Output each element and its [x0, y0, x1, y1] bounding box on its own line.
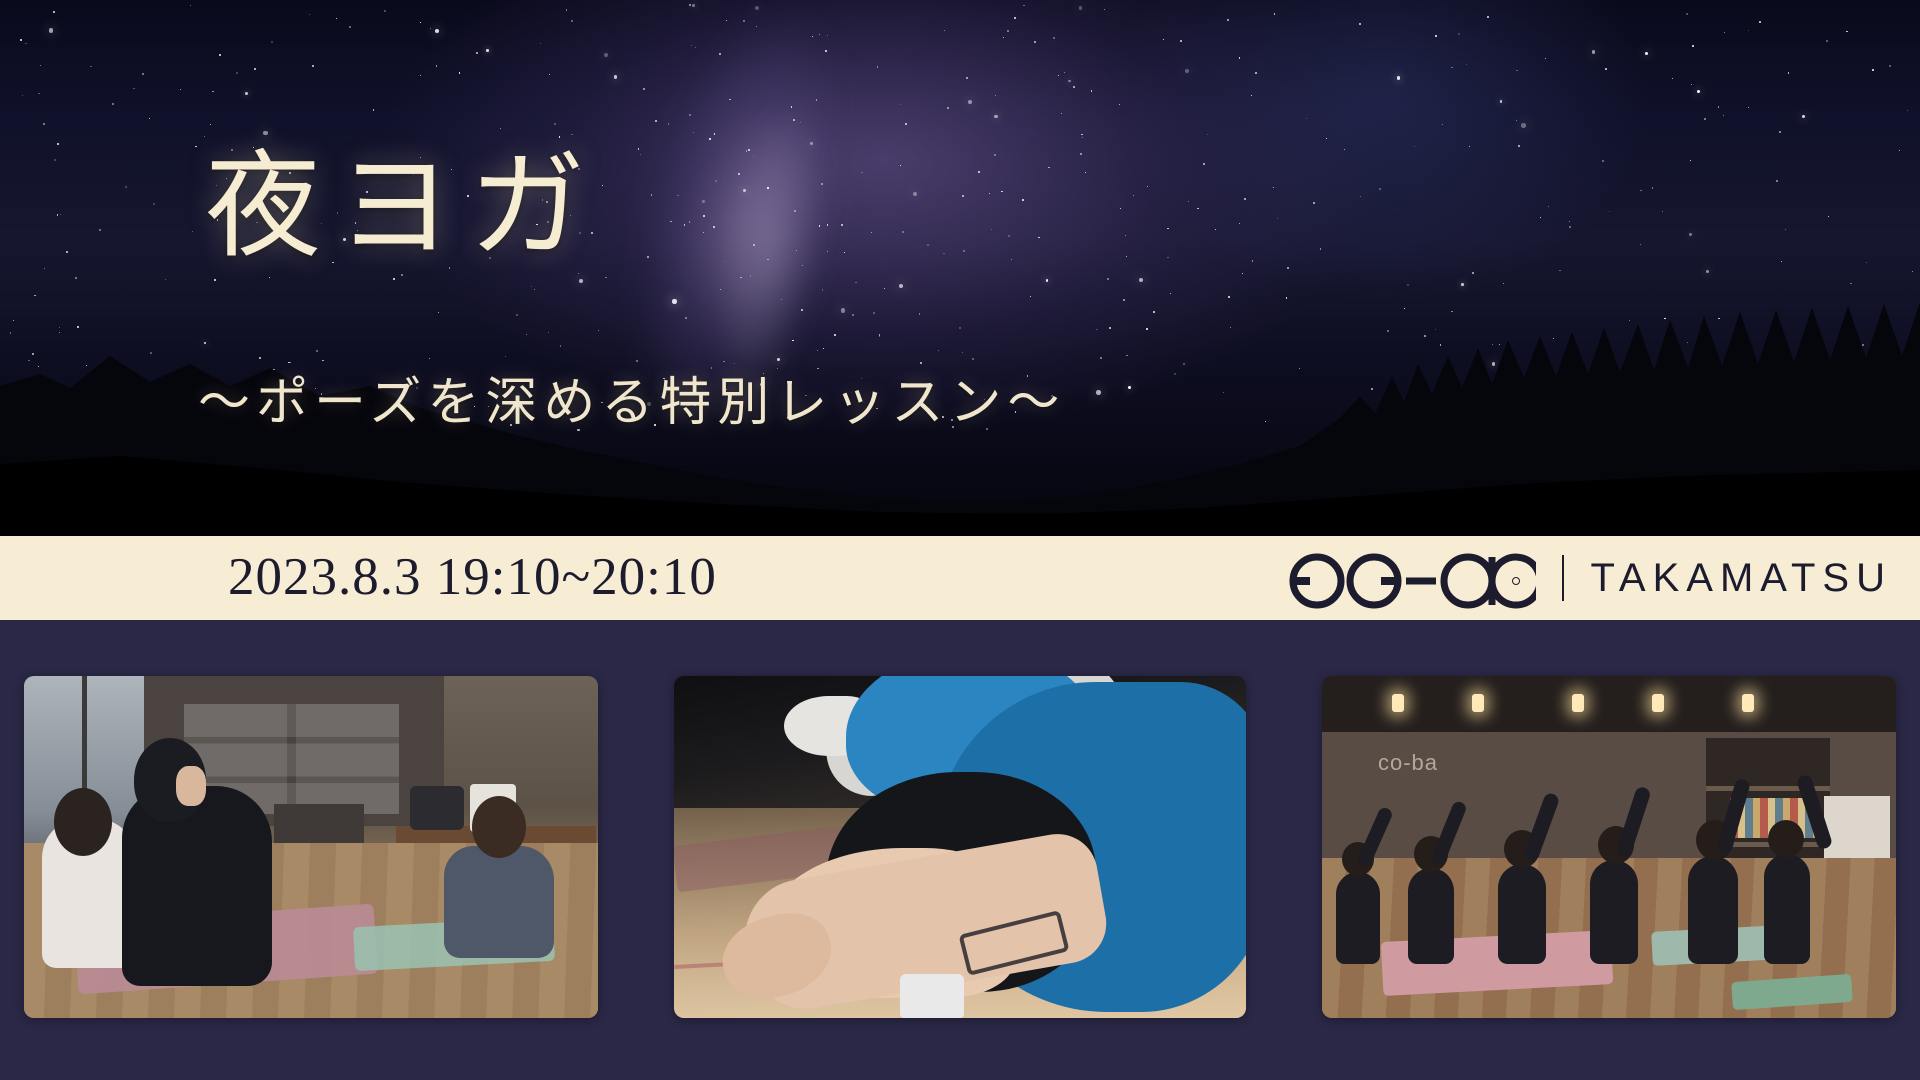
photo-strip: co-ba: [0, 620, 1920, 1080]
info-bar: 2023.8.3 19:10~20:10: [0, 536, 1920, 620]
brand-location-label: TAKAMATSU: [1590, 556, 1892, 601]
hero-banner: 夜ヨガ 〜ポーズを深める特別レッスン〜: [0, 0, 1920, 536]
brand-lockup: TAKAMATSU: [1286, 547, 1892, 609]
brand-divider: [1562, 555, 1564, 601]
photo-studio-seated: [24, 676, 598, 1018]
hero-text-block: 夜ヨガ 〜ポーズを深める特別レッスン〜: [0, 0, 1920, 536]
co-ba-logo-icon: [1286, 547, 1536, 609]
poster-subtitle: 〜ポーズを深める特別レッスン〜: [198, 378, 1065, 430]
event-date-time: 2023.8.3 19:10~20:10: [228, 547, 717, 607]
poster: 夜ヨガ 〜ポーズを深める特別レッスン〜 2023.8.3 19:10~20:10: [0, 0, 1920, 1080]
photo-forward-bend-closeup: [674, 676, 1246, 1018]
poster-title: 夜ヨガ: [205, 150, 601, 266]
photo-group-class: co-ba: [1322, 676, 1896, 1018]
